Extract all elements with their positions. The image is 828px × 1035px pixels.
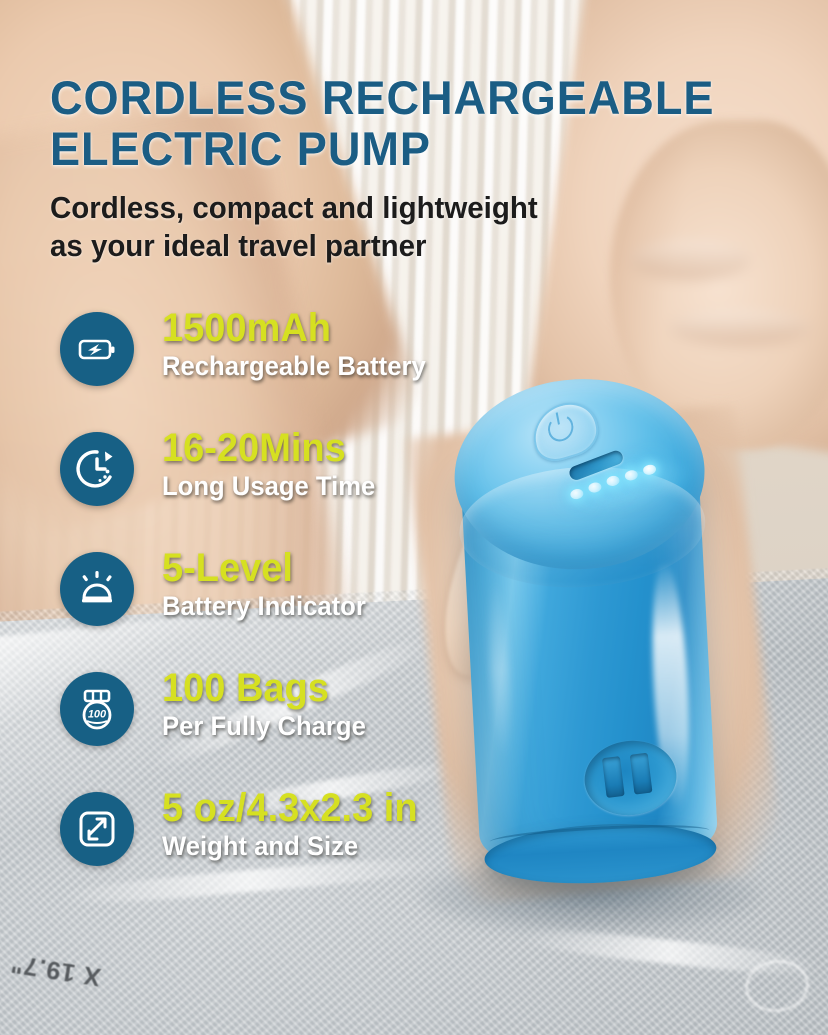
feature-text: 100 Bags Per Fully Charge xyxy=(162,668,532,742)
led-2 xyxy=(588,481,603,493)
power-icon xyxy=(546,411,576,444)
feature-badge xyxy=(60,432,134,506)
feature-text: 1500mAh Rechargeable Battery xyxy=(162,308,532,382)
led-4 xyxy=(624,469,639,481)
feature-badge: 100 xyxy=(60,672,134,746)
feature-item-usage-time: 16-20Mins Long Usage Time xyxy=(60,428,530,548)
feature-item-battery: 1500mAh Rechargeable Battery xyxy=(60,308,530,428)
feature-value: 5-Level xyxy=(162,548,514,589)
title-line-1: CORDLESS RECHARGEABLE xyxy=(50,71,714,124)
subtitle-line-2: as your ideal travel partner xyxy=(50,227,639,266)
feature-item-bag-count: 100 100 Bags Per Fully Charge xyxy=(60,668,530,788)
feature-label: Rechargeable Battery xyxy=(162,351,514,382)
feature-label: Per Fully Charge xyxy=(162,711,514,742)
battery-charging-icon xyxy=(75,327,119,371)
page-subtitle: Cordless, compact and lightweight as you… xyxy=(50,189,639,267)
subtitle-line-1: Cordless, compact and lightweight xyxy=(50,190,538,225)
feature-text: 5 oz/4.3x2.3 in Weight and Size xyxy=(162,788,532,862)
feature-value: 5 oz/4.3x2.3 in xyxy=(162,788,514,829)
feature-value: 16-20Mins xyxy=(162,428,514,469)
led-3 xyxy=(606,475,621,487)
feature-text: 5-Level Battery Indicator xyxy=(162,548,532,622)
title-line-2: ELECTRIC PUMP xyxy=(50,124,722,175)
page-title: CORDLESS RECHARGEABLE ELECTRIC PUMP xyxy=(50,73,722,175)
feature-item-weight-size: 5 oz/4.3x2.3 in Weight and Size xyxy=(60,788,530,908)
feature-value: 1500mAh xyxy=(162,308,514,349)
feature-badge xyxy=(60,312,134,386)
vent-slot-left xyxy=(602,756,625,798)
feature-label: Battery Indicator xyxy=(162,591,514,622)
product-feature-poster: X 19.7" CO xyxy=(0,0,828,1035)
feature-badge xyxy=(60,792,134,866)
led-1 xyxy=(570,488,585,500)
svg-text:100: 100 xyxy=(88,709,107,721)
medal-100-icon: 100 xyxy=(74,686,120,732)
feature-value: 100 Bags xyxy=(162,668,514,709)
clock-refresh-icon xyxy=(74,446,120,492)
feature-text: 16-20Mins Long Usage Time xyxy=(162,428,532,502)
feature-list: 1500mAh Rechargeable Battery xyxy=(60,308,530,908)
feature-item-battery-indicator: 5-Level Battery Indicator xyxy=(60,548,530,668)
indicator-beacon-icon xyxy=(74,566,120,612)
led-5 xyxy=(642,464,657,476)
vent-slot-right xyxy=(630,753,653,795)
feature-badge xyxy=(60,552,134,626)
resize-dimensions-icon xyxy=(75,807,119,851)
feature-label: Weight and Size xyxy=(162,831,514,862)
feature-label: Long Usage Time xyxy=(162,471,514,502)
